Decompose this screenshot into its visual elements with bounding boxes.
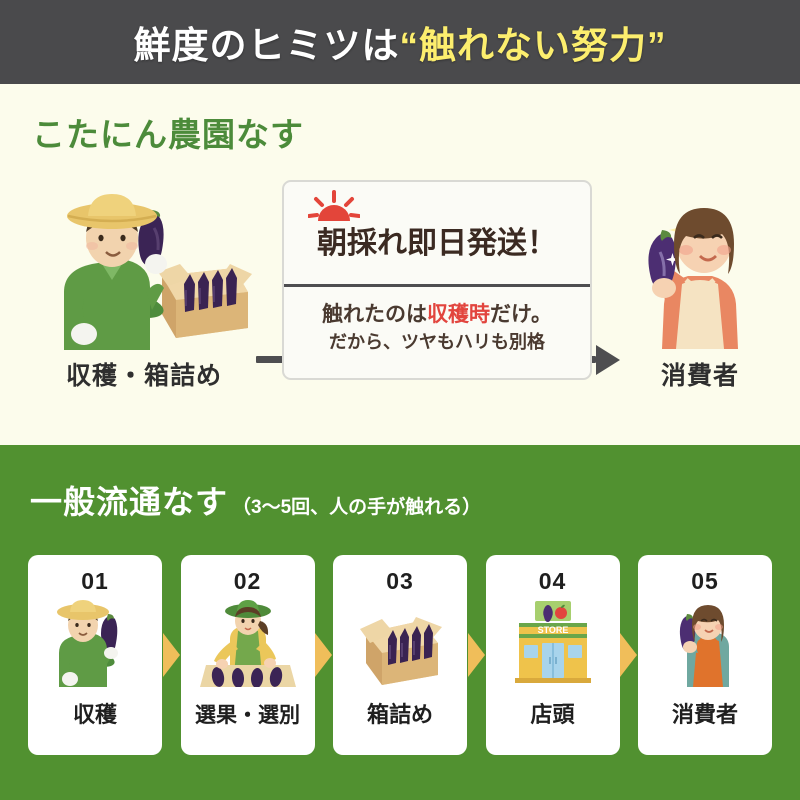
cardboard-box-of-eggplants-illustration	[348, 599, 452, 687]
step-card-02[interactable]: 02	[181, 555, 315, 755]
chevron-right-icon	[315, 555, 334, 755]
callout-headline: 朝採れ即日発送！	[317, 218, 557, 262]
section-general-subtitle: （3〜5回、人の手が触れる）	[232, 492, 481, 519]
store-sign-text: STORE	[537, 625, 568, 635]
chevron-right-icon	[467, 555, 486, 755]
step-card-01[interactable]: 01	[28, 555, 162, 755]
storefront-illustration: STORE	[501, 599, 605, 687]
kotanin-farm-section: こたにん農園なす	[0, 84, 800, 445]
callout-line-1: 触れたのは収穫時だけ。	[284, 301, 590, 329]
freshness-callout-box: 朝採れ即日発送！ 触れたのは収穫時だけ。 だから、ツヤもハリも別格	[282, 180, 592, 380]
consumer-woman-illustration	[653, 599, 757, 687]
page-title-accent: “触れない努力”	[400, 25, 667, 66]
label-harvest-and-packing: 収穫・箱詰め	[34, 356, 254, 392]
sunrise-icon	[308, 190, 360, 224]
step-number: 03	[386, 568, 414, 595]
callout-line1-pre: 触れたのは	[322, 303, 427, 326]
section-farm-title: こたにん農園なす	[32, 108, 304, 156]
step-card-05[interactable]: 05	[638, 555, 772, 755]
section-general-title: 一般流通なす	[30, 477, 228, 523]
page-title-primary: 鮮度のヒミツは	[134, 25, 400, 66]
step-label: 箱詰め	[333, 697, 467, 729]
callout-body-area: 触れたのは収穫時だけ。 だから、ツヤもハリも別格	[284, 287, 590, 355]
farmer-harvest-illustration	[43, 599, 147, 687]
distribution-steps-list: 01	[28, 555, 772, 755]
step-card-03[interactable]: 03	[333, 555, 467, 755]
woman-holding-shiny-eggplant-illustration	[620, 184, 780, 349]
step-label: 店頭	[486, 697, 620, 729]
worker-sorting-eggplants-illustration	[196, 599, 300, 687]
general-distribution-section: 一般流通なす （3〜5回、人の手が触れる） 01	[0, 445, 800, 800]
step-number: 01	[81, 568, 109, 595]
infographic-page: 鮮度のヒミツは“触れない努力” こたにん農園なす	[0, 0, 800, 800]
step-number: 05	[691, 568, 719, 595]
step-label: 収穫	[28, 697, 162, 729]
farmer-with-eggplant-and-box-illustration	[34, 180, 254, 350]
page-header: 鮮度のヒミツは“触れない努力”	[0, 0, 800, 84]
callout-line1-post: だけ。	[490, 303, 552, 326]
section-general-heading: 一般流通なす （3〜5回、人の手が触れる）	[30, 477, 481, 523]
step-number: 02	[234, 568, 262, 595]
step-label: 選果・選別	[181, 699, 315, 729]
step-number: 04	[539, 568, 567, 595]
step-label: 消費者	[638, 697, 772, 729]
callout-headline-area: 朝採れ即日発送！	[284, 182, 590, 287]
callout-line1-highlight: 収穫時	[427, 303, 490, 326]
callout-line-2: だから、ツヤもハリも別格	[284, 329, 590, 355]
step-card-04[interactable]: 04 STORE	[486, 555, 620, 755]
chevron-right-icon	[162, 555, 181, 755]
right-arrow-head-icon	[596, 345, 620, 375]
label-consumer: 消費者	[620, 356, 780, 392]
page-title: 鮮度のヒミツは“触れない努力”	[134, 15, 667, 69]
chevron-right-icon	[620, 555, 639, 755]
